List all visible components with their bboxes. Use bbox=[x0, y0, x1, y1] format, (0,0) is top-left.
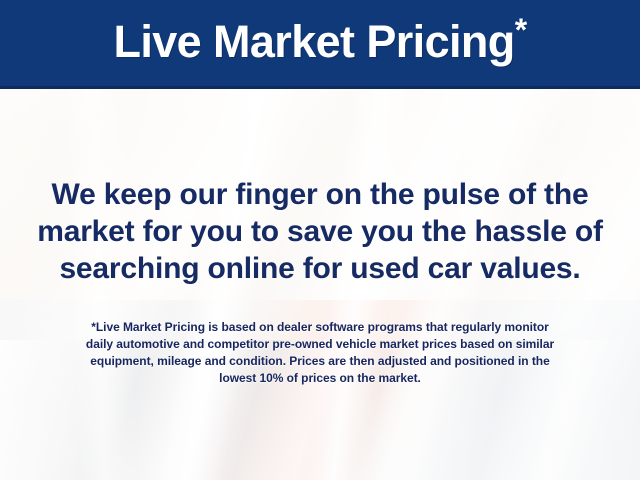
page-title: Live Market Pricing* bbox=[113, 19, 526, 67]
headline-block: We keep our finger on the pulse of the m… bbox=[0, 176, 640, 287]
disclaimer-line-1: *Live Market Pricing is based on dealer … bbox=[0, 319, 640, 336]
page-title-asterisk: * bbox=[515, 12, 527, 48]
header-banner: Live Market Pricing* bbox=[0, 0, 640, 89]
disclaimer-line-2: daily automotive and competitor pre-owne… bbox=[0, 336, 640, 353]
headline-line-1: We keep our finger on the pulse of the bbox=[0, 176, 640, 213]
disclaimer-line-3: equipment, mileage and condition. Prices… bbox=[0, 353, 640, 370]
page-title-text: Live Market Pricing bbox=[113, 16, 514, 67]
disclaimer-line-4: lowest 10% of prices on the market. bbox=[0, 370, 640, 387]
disclaimer-block: *Live Market Pricing is based on dealer … bbox=[0, 319, 640, 387]
headline-line-3: searching online for used car values. bbox=[0, 250, 640, 287]
headline-line-2: market for you to save you the hassle of bbox=[0, 213, 640, 250]
live-market-pricing-ad: Live Market Pricing* We keep our finger … bbox=[0, 0, 640, 480]
